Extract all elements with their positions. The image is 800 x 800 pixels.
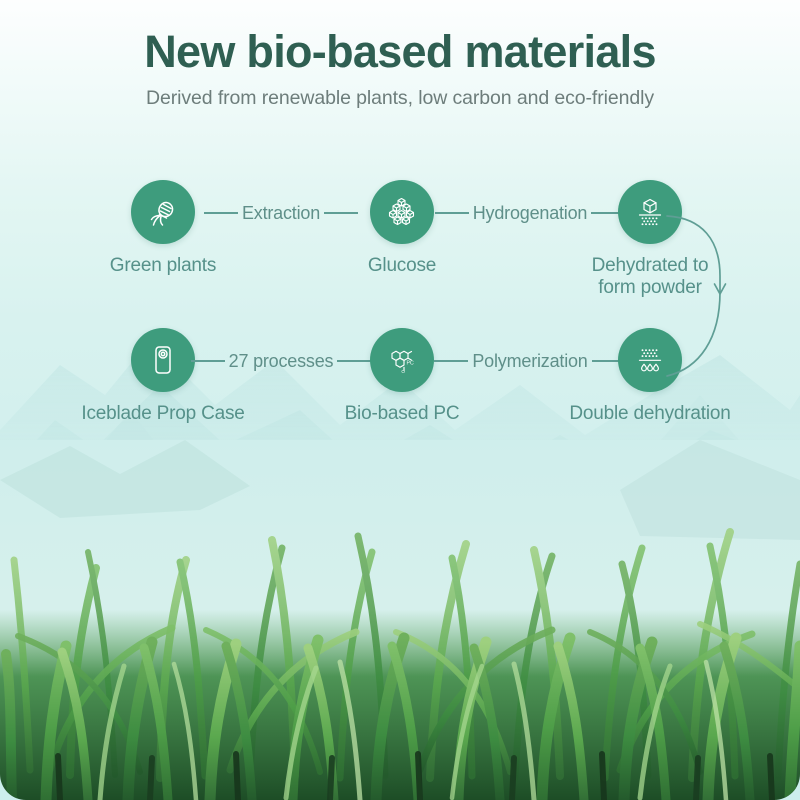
flow-node-label: Iceblade Prop Case	[78, 403, 248, 425]
flow-node-iceblade-prop-case[interactable]: Iceblade Prop Case	[78, 328, 248, 425]
process-flow-diagram: Green plants Extraction	[0, 180, 800, 460]
svg-text:O: O	[401, 369, 405, 374]
sugarcane-field-photo	[0, 440, 800, 800]
flow-node-bio-based-pc[interactable]: PC O Bio-based PC	[317, 328, 487, 425]
sugar-cubes-icon	[370, 180, 434, 244]
flow-node-glucose[interactable]: Glucose	[317, 180, 487, 277]
connector-line-left	[434, 360, 468, 362]
page-title: New bio-based materials	[0, 28, 800, 77]
flow-node-label: Green plants	[78, 255, 248, 277]
header: New bio-based materials Derived from ren…	[0, 28, 800, 110]
page-subtitle: Derived from renewable plants, low carbo…	[0, 87, 800, 110]
molecule-pc-icon: PC O	[370, 328, 434, 392]
connector-line-left	[191, 360, 225, 362]
flow-node-label: Bio-based PC	[317, 403, 487, 425]
flow-node-label: Glucose	[317, 255, 487, 277]
connector-label: Extraction	[238, 203, 324, 224]
flow-node-green-plants[interactable]: Green plants	[78, 180, 248, 277]
svg-text:PC: PC	[407, 360, 414, 366]
poster-root: New bio-based materials Derived from ren…	[0, 0, 800, 800]
curved-down-arrow-icon	[630, 180, 800, 430]
connector-line-left	[204, 212, 238, 214]
connector-line-left	[435, 212, 469, 214]
